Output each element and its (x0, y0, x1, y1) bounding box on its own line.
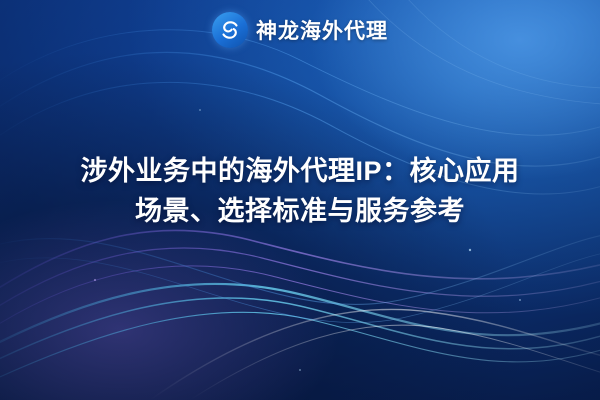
banner-image: 神龙海外代理 涉外业务中的海外代理IP：核心应用 场景、选择标准与服务参考 (0, 0, 600, 400)
brand-name-text: 神龙海外代理 (256, 15, 388, 45)
headline-line-2: 场景、选择标准与服务参考 (24, 192, 576, 232)
brand-logo: 神龙海外代理 (0, 12, 600, 48)
headline-line-1: 涉外业务中的海外代理IP：核心应用 (24, 152, 576, 192)
swirl-circle-logo-icon (212, 12, 248, 48)
headline-title: 涉外业务中的海外代理IP：核心应用 场景、选择标准与服务参考 (24, 152, 576, 232)
